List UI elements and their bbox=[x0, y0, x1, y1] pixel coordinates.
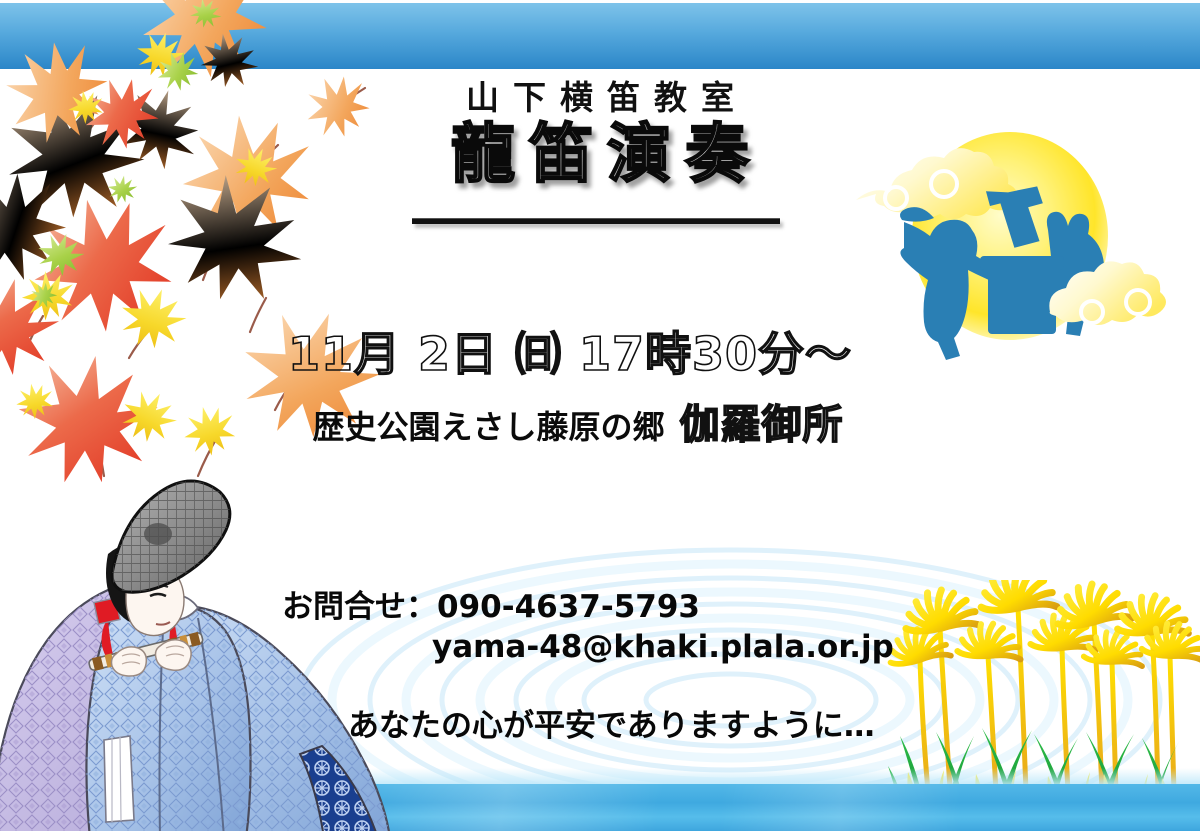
title-group: 山下横笛教室 龍笛演奏 bbox=[0, 78, 1200, 191]
event-datetime-text: 11月 2日 ㈰ 17時30分〜 bbox=[288, 318, 852, 384]
event-venue: 歴史公園えさし藤原の郷 伽羅御所 bbox=[0, 392, 1200, 450]
closing-message: あなたの心が平安でありますように… bbox=[348, 700, 875, 745]
poster-canvas: 山下横笛教室 龍笛演奏 11月 2日 ㈰ 17時30分〜 歴史公園えさし藤原の郷… bbox=[0, 0, 1200, 831]
title-underline bbox=[412, 218, 780, 224]
contact-phone: お問合せ：090-4637-5793 bbox=[282, 588, 922, 628]
school-name: 山下横笛教室 bbox=[0, 78, 1200, 118]
event-datetime: 11月 2日 ㈰ 17時30分〜 bbox=[0, 318, 1200, 384]
contact-block: お問合せ：090-4637-5793 yama-48@khaki.plala.o… bbox=[282, 588, 922, 667]
contact-email[interactable]: yama-48@khaki.plala.or.jp bbox=[282, 628, 922, 668]
venue-hall: 伽羅御所 bbox=[680, 402, 844, 448]
page-title: 龍笛演奏 bbox=[0, 120, 1200, 192]
venue-name: 歴史公園えさし藤原の郷 bbox=[312, 408, 664, 446]
